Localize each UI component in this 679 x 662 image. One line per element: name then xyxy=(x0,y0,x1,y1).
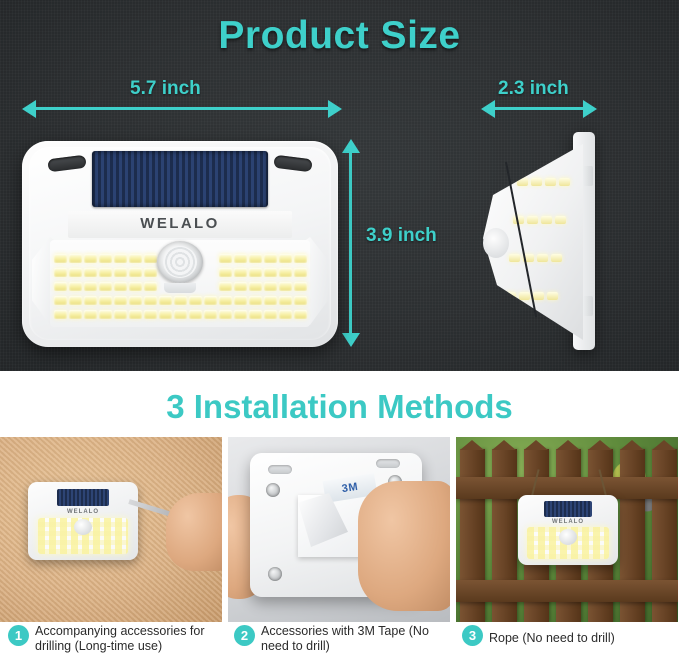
hand xyxy=(166,493,222,571)
led-chip xyxy=(54,254,67,263)
installation-captions: 1 Accompanying accessories for drilling … xyxy=(0,624,679,662)
product-size-section: Product Size 5.7 inch 2.3 inch 3.9 inch … xyxy=(0,0,679,371)
installation-photos: WELALO 3M xyxy=(0,437,679,622)
hand-peeling-tape xyxy=(358,481,450,611)
led-chip xyxy=(144,254,157,263)
arrow-shaft xyxy=(349,150,352,336)
light-hung-on-fence: WELALO xyxy=(518,495,618,565)
led-chip xyxy=(84,254,97,263)
led-chip xyxy=(114,296,127,305)
led-chip xyxy=(69,310,82,319)
led-chip xyxy=(54,268,67,277)
led-chip xyxy=(559,178,570,186)
led-chip xyxy=(249,282,262,291)
led-chip xyxy=(129,296,142,305)
brand-strip: WELALO xyxy=(68,211,292,238)
screw-hole-top-left xyxy=(266,483,280,497)
led-chip xyxy=(545,178,556,186)
width-arrow-icon xyxy=(22,100,342,118)
led-chip xyxy=(54,296,67,305)
led-chip xyxy=(264,268,277,277)
led-chip xyxy=(99,282,112,291)
led-chip xyxy=(69,268,82,277)
led-chip xyxy=(249,254,262,263)
led-chip xyxy=(69,282,82,291)
installation-photo-3m-tape: 3M xyxy=(228,437,450,622)
solar-panel xyxy=(544,501,592,516)
hanging-slot-right-icon xyxy=(376,459,400,468)
arrow-shaft xyxy=(33,107,331,110)
screw-hole-bottom-left xyxy=(268,567,282,581)
led-chip xyxy=(264,254,277,263)
led-chip xyxy=(69,296,82,305)
mounted-light-on-wall: WELALO xyxy=(28,482,138,560)
caption-method-2: 2 Accessories with 3M Tape (No need to d… xyxy=(234,624,456,654)
led-chip xyxy=(279,254,292,263)
hanging-slot-left-icon xyxy=(268,465,292,474)
led-chip xyxy=(114,310,127,319)
led-chip xyxy=(547,292,558,300)
led-chip xyxy=(531,178,542,186)
arrow-head-right xyxy=(583,100,597,118)
led-chip xyxy=(99,254,112,263)
led-chip xyxy=(129,310,142,319)
arrow-shaft xyxy=(492,107,586,110)
led-chip xyxy=(144,268,157,277)
led-chip xyxy=(204,296,217,305)
led-chip xyxy=(519,292,530,300)
installation-methods-title: 3 Installation Methods xyxy=(0,388,679,426)
height-arrow-icon xyxy=(342,139,360,347)
side-sensor-knob xyxy=(483,228,509,258)
led-chip xyxy=(249,268,262,277)
height-dimension-label: 3.9 inch xyxy=(366,225,437,247)
led-chip xyxy=(219,254,232,263)
led-chip xyxy=(279,310,292,319)
installation-photo-rope: WELALO xyxy=(456,437,678,622)
led-chip xyxy=(219,310,232,319)
led-chip xyxy=(264,310,277,319)
led-chip xyxy=(537,254,548,262)
led-chip xyxy=(54,310,67,319)
led-chip xyxy=(84,296,97,305)
step-badge-3: 3 xyxy=(462,625,483,646)
solar-light-front-view: WELALO xyxy=(22,141,338,347)
depth-arrow-icon xyxy=(481,100,597,118)
caption-text: Accessories with 3M Tape (No need to dri… xyxy=(261,624,456,654)
led-chip xyxy=(294,254,307,263)
led-chip xyxy=(249,310,262,319)
led-chip xyxy=(541,216,552,224)
led-chip xyxy=(505,292,516,300)
mounting-tab-top xyxy=(583,166,593,186)
width-dimension-label: 5.7 inch xyxy=(130,78,201,100)
led-chip xyxy=(533,292,544,300)
solar-panel xyxy=(92,151,268,207)
led-chip xyxy=(54,282,67,291)
arrow-head-bottom xyxy=(342,333,360,347)
product-size-title: Product Size xyxy=(0,14,679,58)
led-chip xyxy=(234,254,247,263)
led-chip xyxy=(551,254,562,262)
led-chip xyxy=(144,282,157,291)
led-chip xyxy=(279,268,292,277)
brand-logo-text: WELALO xyxy=(68,215,292,232)
step-badge-1: 1 xyxy=(8,625,29,646)
led-chip xyxy=(189,296,202,305)
mounting-tab-bottom xyxy=(583,296,593,316)
led-chip xyxy=(294,310,307,319)
led-chip xyxy=(159,310,172,319)
led-chip xyxy=(174,296,187,305)
led-chip xyxy=(234,282,247,291)
led-chip xyxy=(129,268,142,277)
led-chip xyxy=(517,178,528,186)
solar-panel xyxy=(57,489,110,506)
led-chip xyxy=(189,310,202,319)
led-chip xyxy=(234,268,247,277)
led-chip xyxy=(114,268,127,277)
led-chip xyxy=(219,282,232,291)
installation-methods-section: 3 Installation Methods WELALO xyxy=(0,371,679,662)
led-chip xyxy=(99,296,112,305)
solar-light-side-view xyxy=(483,132,603,350)
arrow-head-right xyxy=(328,100,342,118)
installation-photo-drilling: WELALO xyxy=(0,437,222,622)
led-chip xyxy=(84,268,97,277)
led-chip xyxy=(84,310,97,319)
caption-method-3: 3 Rope (No need to drill) xyxy=(462,624,678,646)
led-chip xyxy=(174,310,187,319)
led-chip xyxy=(279,296,292,305)
led-chip xyxy=(219,268,232,277)
caption-text: Rope (No need to drill) xyxy=(489,631,615,646)
depth-dimension-label: 2.3 inch xyxy=(498,78,569,100)
led-chip xyxy=(294,282,307,291)
led-chip xyxy=(144,296,157,305)
led-chip xyxy=(114,282,127,291)
step-badge-2: 2 xyxy=(234,625,255,646)
led-chip xyxy=(234,310,247,319)
led-chip xyxy=(264,282,277,291)
motion-sensor-dome xyxy=(157,241,203,283)
led-chip xyxy=(509,254,520,262)
caption-method-1: 1 Accompanying accessories for drilling … xyxy=(8,624,230,654)
led-chip xyxy=(279,282,292,291)
led-chip xyxy=(114,254,127,263)
led-chip xyxy=(234,296,247,305)
led-chip xyxy=(69,254,82,263)
led-chip xyxy=(129,282,142,291)
led-chip xyxy=(84,282,97,291)
brand-logo-text: WELALO xyxy=(28,509,138,515)
led-chip xyxy=(144,310,157,319)
fence-rail-bottom xyxy=(456,580,678,602)
brand-logo-text: WELALO xyxy=(518,519,618,525)
motion-sensor-dome xyxy=(559,529,577,545)
caption-text: Accompanying accessories for drilling (L… xyxy=(35,624,230,654)
led-chip xyxy=(99,310,112,319)
led-chip xyxy=(99,268,112,277)
led-chip xyxy=(264,296,277,305)
led-chip xyxy=(159,296,172,305)
led-chip xyxy=(527,216,538,224)
led-chip xyxy=(129,254,142,263)
led-chip xyxy=(219,296,232,305)
sensor-tab xyxy=(164,283,196,293)
led-chip xyxy=(249,296,262,305)
led-chip xyxy=(294,268,307,277)
led-chip xyxy=(555,216,566,224)
led-chip xyxy=(294,296,307,305)
led-chip xyxy=(204,310,217,319)
